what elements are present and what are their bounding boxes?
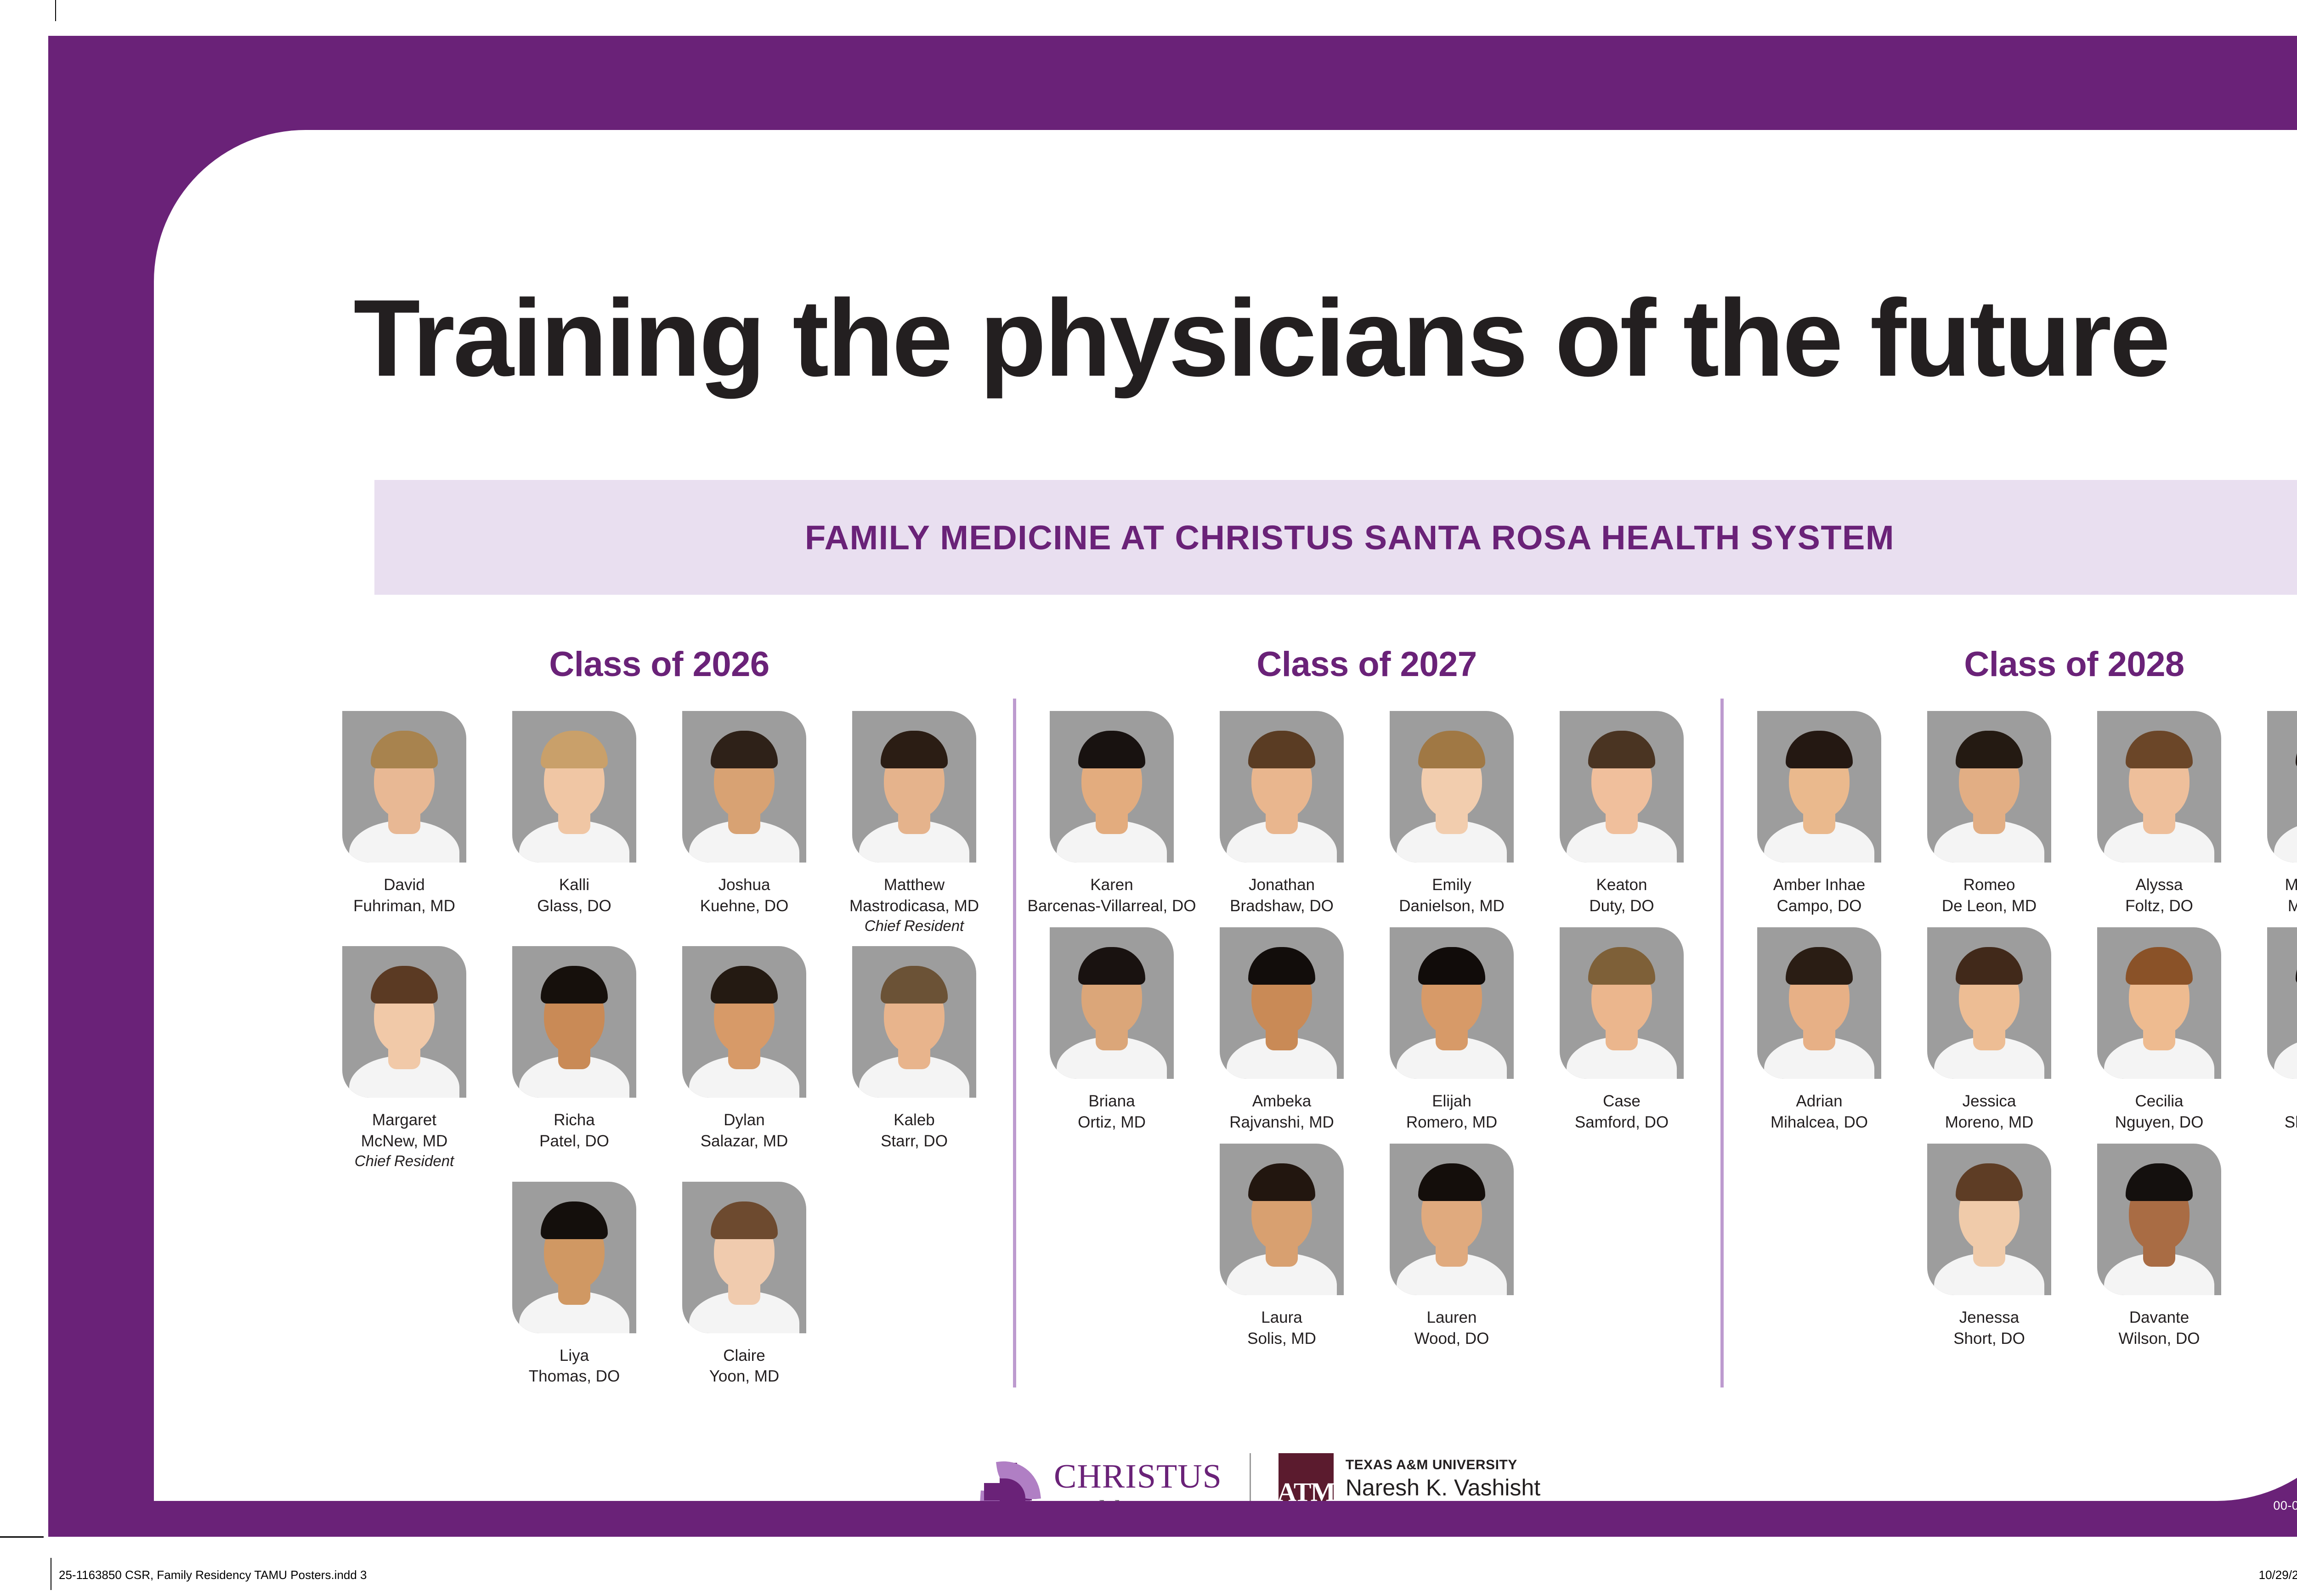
resident-card: Kaleb Starr, DO	[829, 946, 999, 1170]
resident-card: Romeo De Leon, MD	[1904, 711, 2074, 916]
resident-card: Case Samford, DO	[1537, 927, 1707, 1133]
resident-photo	[1220, 1144, 1344, 1295]
resident-name: Melanie Ann McCoy, MD	[2285, 874, 2297, 916]
column-divider	[1720, 699, 1724, 1387]
resident-photo	[682, 1182, 806, 1333]
resident-name: Amber Inhae Campo, DO	[1773, 874, 1865, 916]
resident-name: Laura Solis, MD	[1247, 1307, 1316, 1349]
tamu-atm-icon: ATM	[1279, 1453, 1334, 1501]
resident-photo	[1050, 711, 1174, 863]
resident-photo	[1220, 711, 1344, 863]
class-column-class-of-2028: Class of 2028Amber Inhae Campo, DORomeo …	[1720, 644, 2297, 1425]
resident-name: Cecilia Nguyen, DO	[2115, 1091, 2204, 1133]
resident-photo	[852, 711, 976, 863]
resident-name: David Fuhriman, MD	[353, 874, 455, 916]
resident-photo	[1390, 1144, 1514, 1295]
resident-card: Richa Patel, DO	[489, 946, 659, 1170]
resident-name: Matthew Mastrodicasa, MD	[849, 874, 979, 916]
resident-card: Karen Barcenas-Villarreal, DO	[1027, 711, 1197, 916]
resident-name: Kalli Glass, DO	[537, 874, 611, 916]
resident-name: Elijah Romero, MD	[1406, 1091, 1497, 1133]
resident-name: Ambeka Rajvanshi, MD	[1229, 1091, 1334, 1133]
resident-photo	[1560, 927, 1684, 1079]
resident-card: Amber Inhae Campo, DO	[1734, 711, 1904, 916]
resident-name: Liya Thomas, DO	[529, 1345, 620, 1387]
resident-photo	[2097, 711, 2221, 863]
resident-name: Lauren Wood, DO	[1414, 1307, 1489, 1349]
resident-photo	[852, 946, 976, 1098]
resident-name: Joshua Kuehne, DO	[700, 874, 789, 916]
column-divider	[1013, 699, 1016, 1387]
tamu-college-label: College of Medicine	[1346, 1500, 1547, 1501]
christus-health-logo: CHRISTUS Health®	[975, 1453, 1222, 1501]
resident-card: Matthew Mastrodicasa, MDChief Resident	[829, 711, 999, 935]
resident-photo	[682, 946, 806, 1098]
tamu-university-label: TEXAS A&M UNIVERSITY	[1346, 1457, 1547, 1473]
resident-photo	[1757, 927, 1881, 1079]
resident-card: Joshua Kuehne, DO	[659, 711, 829, 935]
resident-photo	[512, 946, 636, 1098]
resident-name: Briana Ortiz, MD	[1078, 1091, 1146, 1133]
resident-name: Richa Patel, DO	[539, 1110, 609, 1151]
resident-card: Liya Thomas, DO	[489, 1182, 659, 1387]
resident-card: Elijah Romero, MD	[1367, 927, 1537, 1133]
resident-name: Keaton Duty, DO	[1589, 874, 1654, 916]
resident-photo	[2267, 711, 2297, 863]
footer-timestamp: 10/29/25 11:39 AM	[2259, 1568, 2297, 1582]
resident-card: Cecilia Nguyen, DO	[2074, 927, 2244, 1133]
tamu-donor-name: Naresh K. Vashisht	[1346, 1475, 1547, 1500]
resident-name: Jessica Moreno, MD	[1945, 1091, 2034, 1133]
resident-name: Romeo De Leon, MD	[1942, 874, 2037, 916]
crop-mark-bottom-left	[0, 1536, 44, 1538]
poster-card: Training the physicians of the future FA…	[154, 130, 2297, 1501]
logo-divider	[1250, 1453, 1251, 1501]
tamu-college-of-medicine-logo: ATM TEXAS A&M UNIVERSITY Naresh K. Vashi…	[1279, 1453, 1547, 1501]
resident-name: Emily Danielson, MD	[1399, 874, 1505, 916]
resident-photo	[1757, 711, 1881, 863]
print-footer: 25-1163850 CSR, Family Residency TAMU Po…	[0, 1562, 2297, 1589]
subtitle-banner: FAMILY MEDICINE AT CHRISTUS SANTA ROSA H…	[374, 480, 2297, 595]
resident-card: Claire Yoon, MD	[659, 1182, 829, 1387]
resident-card: Briana Ortiz, MD	[1027, 927, 1197, 1133]
resident-photo	[1927, 711, 2051, 863]
resident-card: Ambeka Rajvanshi, MD	[1197, 927, 1367, 1133]
tamu-atm-letters: ATM	[1277, 1477, 1335, 1501]
resident-photo	[512, 711, 636, 863]
resident-grid: David Fuhriman, MDKalli Glass, DOJoshua …	[319, 711, 999, 1398]
resident-photo	[2267, 927, 2297, 1079]
resident-card: Keaton Duty, DO	[1537, 711, 1707, 916]
subtitle-text: FAMILY MEDICINE AT CHRISTUS SANTA ROSA H…	[805, 518, 1895, 557]
class-columns: Class of 2026David Fuhriman, MDKalli Gla…	[306, 644, 2297, 1425]
logo-row: CHRISTUS Health® ATM TEXAS A&M UNIVERSIT…	[154, 1453, 2297, 1501]
resident-card: Laura Solis, MD	[1197, 1144, 1367, 1349]
resident-name: Alyssa Foltz, DO	[2125, 874, 2193, 916]
resident-name: Claire Yoon, MD	[709, 1345, 779, 1387]
resident-card: Jenessa Short, DO	[1904, 1144, 2074, 1349]
class-heading: Class of 2028	[1720, 644, 2297, 684]
class-column-class-of-2027: Class of 2027Karen Barcenas-Villarreal, …	[1013, 644, 1720, 1425]
resident-photo	[1050, 927, 1174, 1079]
resident-card: Davante Wilson, DO	[2074, 1144, 2244, 1349]
resident-name: Davante Wilson, DO	[2119, 1307, 2200, 1349]
resident-card: Adrian Mihalcea, DO	[1734, 927, 1904, 1133]
resident-name: Dylan Salazar, MD	[701, 1110, 788, 1151]
resident-photo	[2097, 1144, 2221, 1295]
footer-rule-left	[51, 1558, 51, 1590]
resident-card: David Fuhriman, MD	[319, 711, 489, 935]
resident-name: Case Samford, DO	[1575, 1091, 1669, 1133]
class-heading: Class of 2027	[1013, 644, 1720, 684]
resident-card: Anika Sharma, DO	[2244, 927, 2297, 1133]
resident-role-note: Chief Resident	[355, 1151, 454, 1170]
resident-name: Kaleb Starr, DO	[881, 1110, 948, 1151]
resident-photo	[1390, 711, 1514, 863]
christus-cross-icon	[975, 1453, 1044, 1501]
resident-name: Adrian Mihalcea, DO	[1771, 1091, 1868, 1133]
poster-background: 00-000000 Training the physicians of the…	[48, 36, 2297, 1537]
resident-card: Melanie Ann McCoy, MD	[2244, 711, 2297, 916]
resident-card: Margaret McNew, MDChief Resident	[319, 946, 489, 1170]
resident-photo	[342, 946, 466, 1098]
resident-photo	[1560, 711, 1684, 863]
class-heading: Class of 2026	[306, 644, 1013, 684]
resident-grid: Amber Inhae Campo, DORomeo De Leon, MDAl…	[1734, 711, 2297, 1360]
resident-photo	[682, 711, 806, 863]
resident-photo	[512, 1182, 636, 1333]
resident-card: Jonathan Bradshaw, DO	[1197, 711, 1367, 916]
christus-wordmark: CHRISTUS	[1054, 1460, 1222, 1494]
resident-grid: Karen Barcenas-Villarreal, DOJonathan Br…	[1027, 711, 1707, 1360]
class-column-class-of-2026: Class of 2026David Fuhriman, MDKalli Gla…	[306, 644, 1013, 1425]
resident-name: Margaret McNew, MD	[361, 1110, 448, 1151]
resident-photo	[1927, 1144, 2051, 1295]
resident-card: Jessica Moreno, MD	[1904, 927, 2074, 1133]
resident-name: Jenessa Short, DO	[1953, 1307, 2025, 1349]
resident-name: Karen Barcenas-Villarreal, DO	[1028, 874, 1196, 916]
resident-card: Lauren Wood, DO	[1367, 1144, 1537, 1349]
resident-photo	[1220, 927, 1344, 1079]
resident-name: Anika Sharma, DO	[2285, 1091, 2297, 1133]
christus-health-wordmark: Health®	[1054, 1496, 1222, 1501]
resident-card: Emily Danielson, MD	[1367, 711, 1537, 916]
resident-card: Alyssa Foltz, DO	[2074, 711, 2244, 916]
resident-name: Jonathan Bradshaw, DO	[1230, 874, 1334, 916]
resident-role-note: Chief Resident	[865, 916, 964, 935]
page-title: Training the physicians of the future	[154, 284, 2297, 393]
resident-card: Dylan Salazar, MD	[659, 946, 829, 1170]
crop-mark-left	[55, 0, 56, 21]
resident-card: Kalli Glass, DO	[489, 711, 659, 935]
resident-photo	[1927, 927, 2051, 1079]
resident-photo	[342, 711, 466, 863]
resident-photo	[2097, 927, 2221, 1079]
footer-filename: 25-1163850 CSR, Family Residency TAMU Po…	[59, 1568, 367, 1582]
resident-photo	[1390, 927, 1514, 1079]
